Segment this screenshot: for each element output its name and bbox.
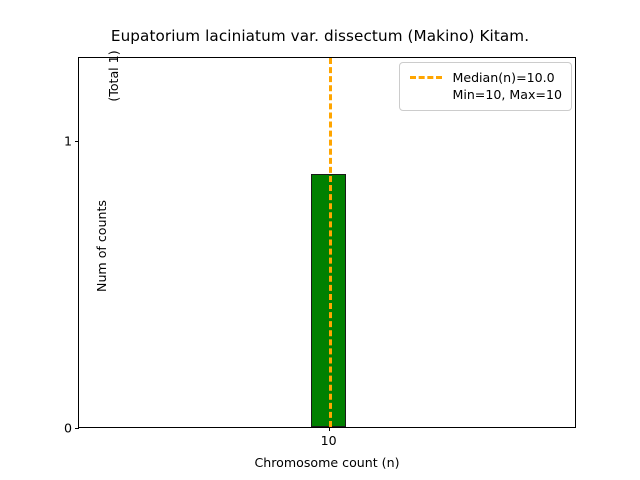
x-tick-label-10: 10 [321, 433, 337, 448]
chart-figure: Eupatorium laciniatum var. dissectum (Ma… [0, 0, 640, 480]
legend-median-label: Median(n)=10.0 [452, 69, 562, 86]
y-tick-mark-0 [75, 428, 79, 429]
y-axis-label: Num of counts [94, 166, 110, 326]
legend-minmax-label: Min=10, Max=10 [452, 86, 562, 103]
median-line [329, 58, 332, 427]
orange-dashed-line-icon [409, 69, 443, 86]
x-tick-mark-10 [329, 427, 330, 431]
y-tick-mark-1 [75, 141, 79, 142]
x-axis-label: Chromosome count (n) [78, 455, 576, 470]
y-axis-total-label: (Total 1) [106, 26, 122, 126]
legend-text: Median(n)=10.0 Min=10, Max=10 [452, 69, 562, 103]
plot-area: 0 1 10 Num of counts (Total 1) Median(n)… [78, 57, 576, 428]
legend: Median(n)=10.0 Min=10, Max=10 [399, 62, 572, 111]
page-title: Eupatorium laciniatum var. dissectum (Ma… [0, 27, 640, 45]
y-tick-label-0: 0 [64, 420, 72, 435]
y-tick-label-1: 1 [64, 133, 72, 148]
